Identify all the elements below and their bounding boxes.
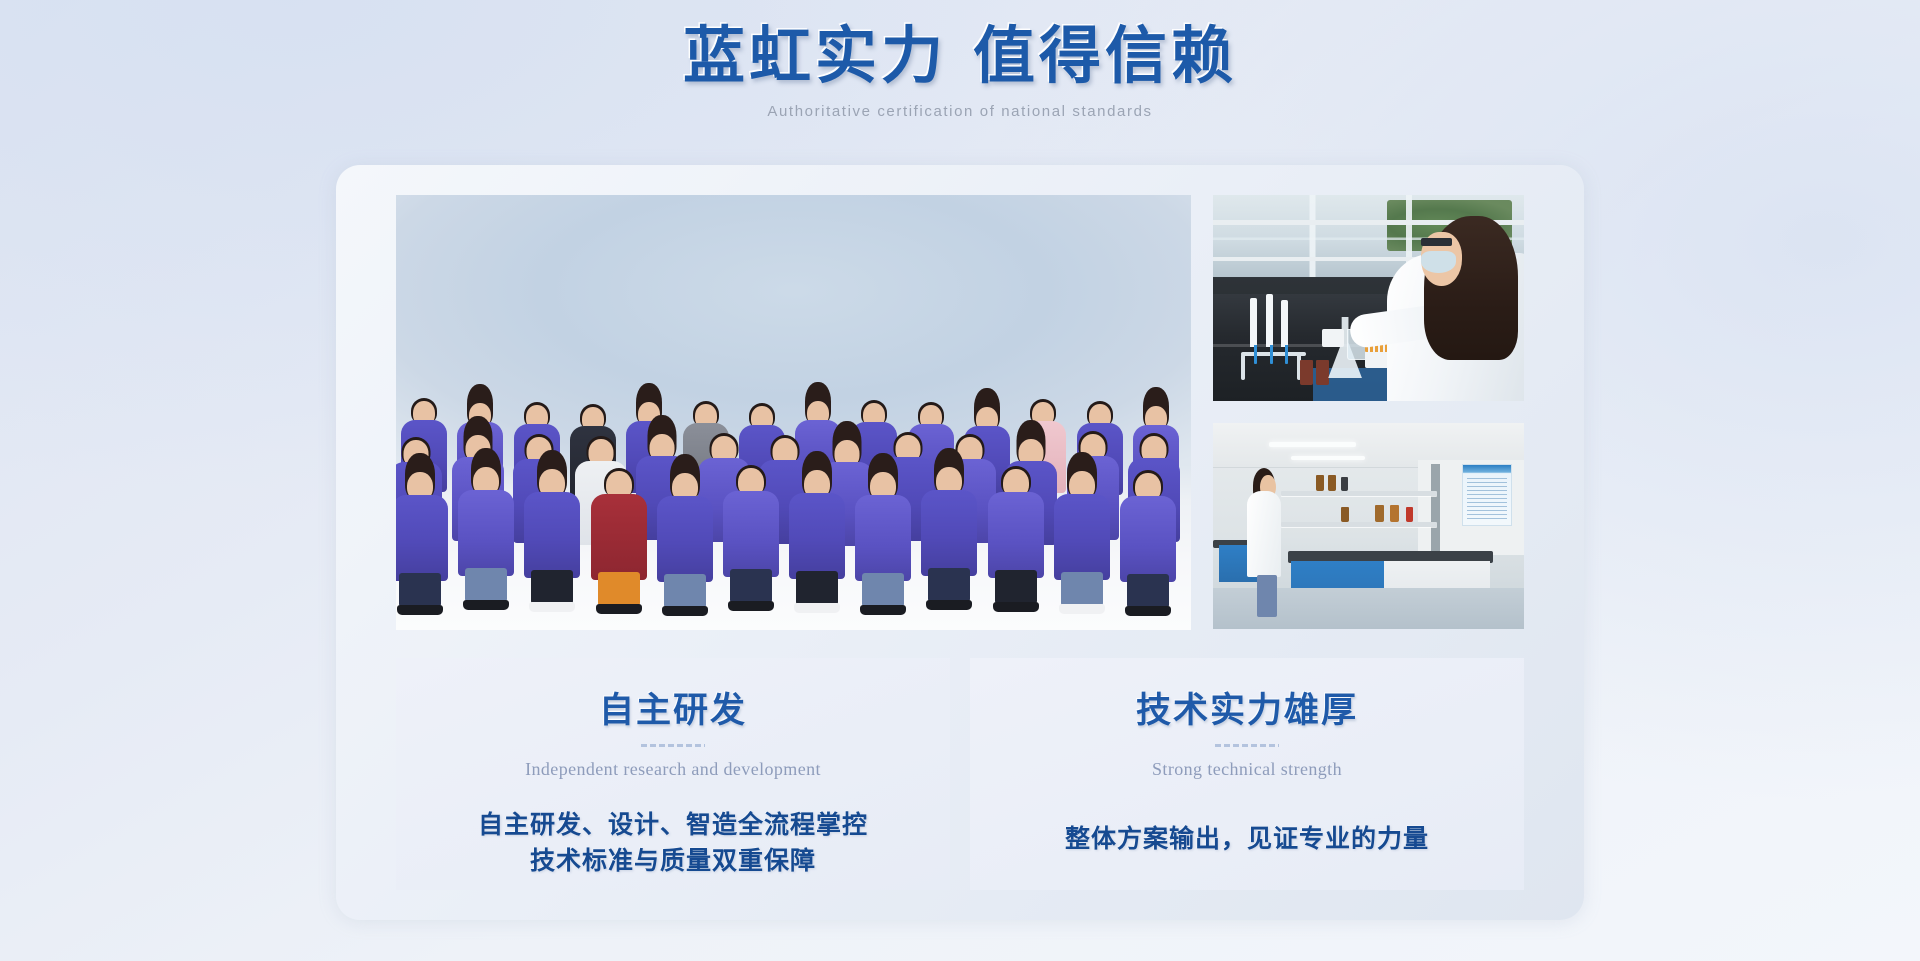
lab2-bottle-7 <box>1341 507 1349 521</box>
feature-cards: 自主研发 Independent research and developmen… <box>396 658 1524 890</box>
person-uniform <box>988 492 1044 578</box>
person-legs <box>862 573 904 607</box>
person-uniform <box>1120 496 1176 582</box>
feature-card-rnd-title: 自主研发 <box>396 682 950 733</box>
lab1-pipette-2 <box>1266 294 1273 348</box>
person-uniform <box>1054 494 1110 580</box>
person-shoes <box>596 604 642 614</box>
group-photo-person <box>654 460 716 616</box>
person-shoes <box>926 600 972 610</box>
lab2-bottle-3 <box>1341 477 1348 491</box>
lab1-pipette-1 <box>1250 298 1257 347</box>
lab1-reagent-bottle-1 <box>1300 360 1313 385</box>
lab-photo-room[interactable] <box>1213 423 1524 629</box>
lab1-tip-box <box>1322 329 1344 348</box>
lab2-shelf-top <box>1281 491 1437 496</box>
person-shoes <box>529 602 575 612</box>
group-photo-person <box>786 457 848 613</box>
feature-card-rnd[interactable]: 自主研发 Independent research and developmen… <box>396 658 950 890</box>
lab2-ceiling-light-2 <box>1291 456 1366 460</box>
person-legs <box>598 572 640 606</box>
person-shoes <box>993 602 1039 612</box>
person-uniform <box>396 495 448 581</box>
person-legs <box>465 568 507 602</box>
lab1-pipette-tip-2 <box>1270 345 1273 364</box>
lab2-shelf-upright <box>1431 464 1440 557</box>
lab1-pipette-3 <box>1281 300 1288 347</box>
feature-card-tech-english: Strong technical strength <box>970 759 1524 780</box>
lab-photo-column <box>1213 195 1524 630</box>
person-uniform <box>723 491 779 577</box>
person-legs <box>664 574 706 608</box>
person-shoes <box>463 600 509 610</box>
lab1-technician-glasses <box>1421 238 1452 246</box>
page-subtitle: Authoritative certification of national … <box>0 103 1920 120</box>
person-shoes <box>1125 606 1171 616</box>
lab1-pipette-stand-leg <box>1241 354 1245 381</box>
dashed-divider-icon-2 <box>1215 744 1279 747</box>
group-photo-person <box>521 456 583 612</box>
person-legs <box>1127 574 1169 608</box>
feature-card-rnd-english: Independent research and development <box>396 759 950 780</box>
lab1-reagent-bottle-2 <box>1316 360 1329 385</box>
feature-card-tech[interactable]: 技术实力雄厚 Strong technical strength 整体方案输出，… <box>970 658 1524 890</box>
dashed-divider-icon <box>641 744 705 747</box>
lab2-bottle-5 <box>1390 505 1399 521</box>
group-photo-person <box>852 459 914 615</box>
page-root: 蓝虹实力值得信赖 Authoritative certification of … <box>0 0 1920 961</box>
person-legs <box>730 569 772 603</box>
group-photo-person <box>918 454 980 610</box>
lab2-ceiling-light-1 <box>1269 442 1356 447</box>
page-header: 蓝虹实力值得信赖 Authoritative certification of … <box>0 22 1920 120</box>
lab1-pipette-tip-1 <box>1254 345 1257 364</box>
group-photo-people <box>396 195 1191 630</box>
group-photo-person <box>1117 460 1179 616</box>
person-legs <box>399 573 441 607</box>
media-gallery <box>396 195 1524 630</box>
content-panel: 自主研发 Independent research and developmen… <box>336 165 1584 920</box>
person-shoes <box>1059 604 1105 614</box>
person-legs <box>928 568 970 602</box>
lab2-safety-poster <box>1462 464 1512 526</box>
lab2-bottle-1 <box>1316 475 1324 491</box>
lab2-person-legs <box>1257 575 1277 616</box>
feature-card-tech-body-line1: 整体方案输出，见证专业的力量 <box>1065 826 1429 853</box>
feature-card-tech-body: 整体方案输出，见证专业的力量 <box>970 822 1524 858</box>
person-shoes <box>728 601 774 611</box>
person-uniform <box>591 494 647 580</box>
group-photo-person <box>588 458 650 614</box>
person-shoes <box>662 606 708 616</box>
person-uniform <box>789 493 845 579</box>
lab2-bottle-6 <box>1406 507 1413 521</box>
person-shoes <box>794 603 840 613</box>
feature-card-rnd-body-line1: 自主研发、设计、智造全流程掌控 <box>478 812 868 839</box>
page-title-part2: 值得信赖 <box>973 23 1237 91</box>
feature-card-rnd-body: 自主研发、设计、智造全流程掌控 技术标准与质量双重保障 <box>396 808 950 881</box>
page-title: 蓝虹实力值得信赖 <box>0 22 1920 93</box>
lab1-technician-mask <box>1421 251 1455 274</box>
lab2-person-coat <box>1247 491 1281 578</box>
person-uniform <box>921 490 977 576</box>
page-title-part1: 蓝虹实力 <box>683 23 947 91</box>
person-uniform <box>657 496 713 582</box>
person-shoes <box>397 605 443 615</box>
feature-card-rnd-body-line2: 技术标准与质量双重保障 <box>396 844 950 880</box>
group-photo-person <box>396 459 451 615</box>
person-uniform <box>855 495 911 581</box>
group-photo-person <box>455 454 517 610</box>
group-photo[interactable] <box>396 195 1191 630</box>
lab2-shelf-mid <box>1281 522 1437 527</box>
feature-card-tech-title: 技术实力雄厚 <box>970 682 1524 733</box>
lab1-pipette-tip-3 <box>1285 345 1288 364</box>
person-uniform <box>524 492 580 578</box>
lab-photo-technician[interactable] <box>1213 195 1524 401</box>
person-shoes <box>860 605 906 615</box>
person-legs <box>995 570 1037 604</box>
lab2-bottle-2 <box>1328 475 1336 491</box>
person-legs <box>796 571 838 605</box>
group-photo-person <box>1051 458 1113 614</box>
group-photo-person <box>985 456 1047 612</box>
group-photo-person <box>720 455 782 611</box>
person-legs <box>531 570 573 604</box>
person-legs <box>1061 572 1103 606</box>
lab2-bottle-4 <box>1375 505 1384 521</box>
person-uniform <box>458 490 514 576</box>
